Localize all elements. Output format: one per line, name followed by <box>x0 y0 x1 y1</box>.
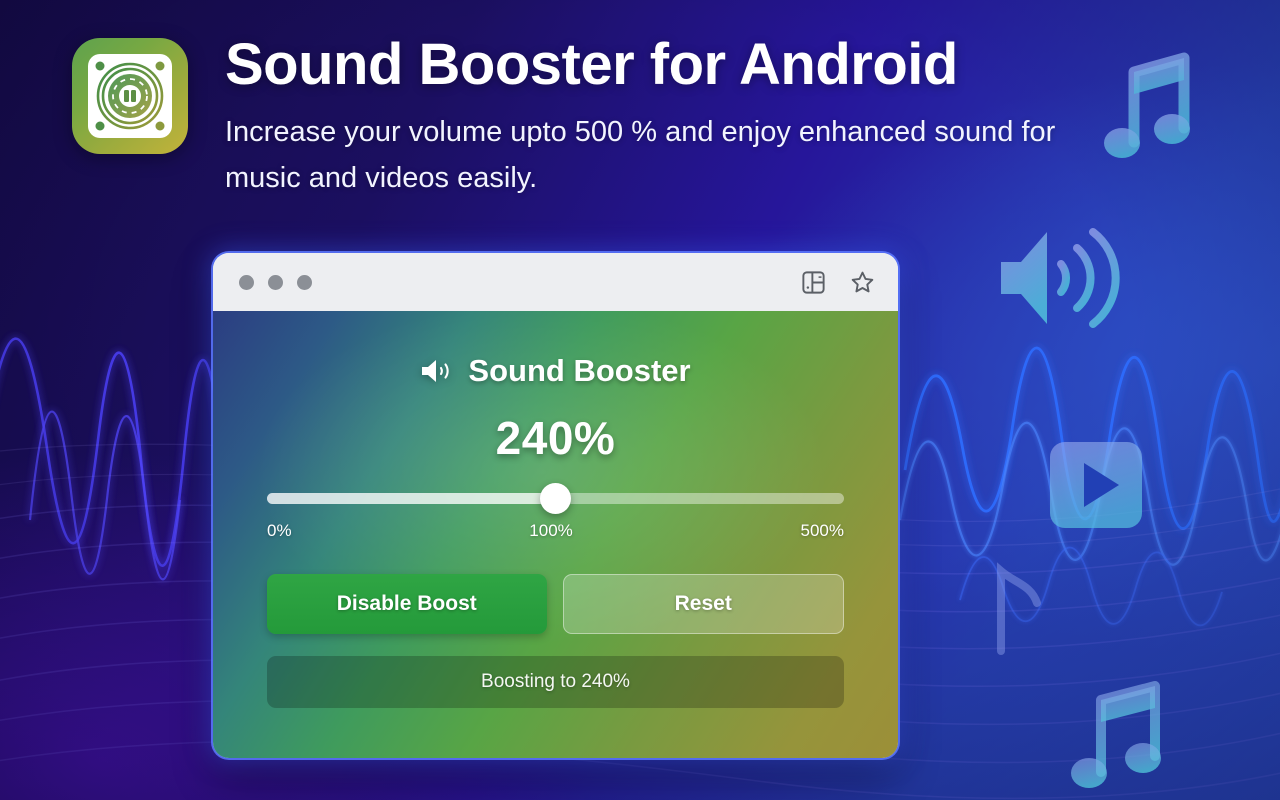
app-brand-label: Sound Booster <box>468 353 690 389</box>
page-subtitle: Increase your volume upto 500 % and enjo… <box>225 110 1122 202</box>
close-dot[interactable] <box>239 275 254 290</box>
boost-slider[interactable]: 0% 100% 500% <box>267 493 844 541</box>
window-controls[interactable] <box>239 275 312 290</box>
boost-value-display: 240% <box>267 411 844 465</box>
titlebar-actions <box>800 269 876 296</box>
speaker-app-logo-icon <box>72 38 188 154</box>
slider-scale-labels: 0% 100% 500% <box>267 521 844 541</box>
extensions-panel-icon[interactable] <box>800 269 827 296</box>
slider-mid-label: 100% <box>529 521 572 541</box>
speaker-volume-icon <box>420 357 454 385</box>
disable-boost-button[interactable]: Disable Boost <box>267 574 547 634</box>
minimize-dot[interactable] <box>268 275 283 290</box>
page-title: Sound Booster for Android <box>225 36 1122 94</box>
slider-max-label: 500% <box>801 521 844 541</box>
page-header: Sound Booster for Android Increase your … <box>72 36 1122 202</box>
sound-booster-app-panel: Sound Booster 240% 0% 100% 500% Disable … <box>213 311 898 758</box>
speaker-waves-icon <box>995 220 1120 335</box>
video-play-icon <box>1048 440 1144 530</box>
app-brand: Sound Booster <box>267 353 844 389</box>
action-buttons: Disable Boost Reset <box>267 574 844 634</box>
status-badge: Boosting to 240% <box>267 656 844 708</box>
reset-button[interactable]: Reset <box>563 574 845 634</box>
music-note-icon <box>1065 680 1170 795</box>
slider-fill <box>267 493 556 504</box>
bookmark-star-icon[interactable] <box>849 269 876 296</box>
maximize-dot[interactable] <box>297 275 312 290</box>
eighth-note-icon <box>985 555 1047 665</box>
browser-titlebar <box>213 253 898 311</box>
slider-thumb[interactable] <box>540 483 571 514</box>
slider-min-label: 0% <box>267 521 292 541</box>
browser-window: Sound Booster 240% 0% 100% 500% Disable … <box>213 253 898 758</box>
slider-track[interactable] <box>267 493 844 504</box>
